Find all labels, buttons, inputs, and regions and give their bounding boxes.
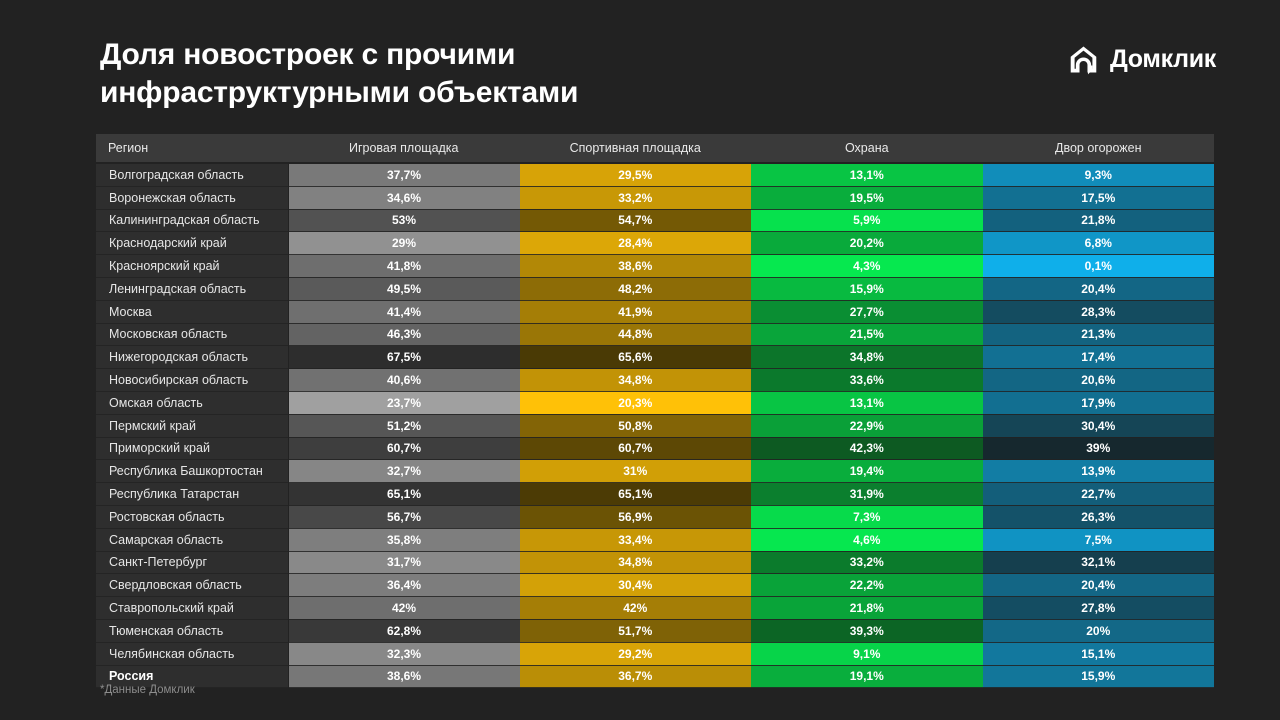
value-cell-sportsground: 41,9% [520, 300, 752, 323]
column-header-playground[interactable]: Игровая площадка [288, 134, 520, 163]
value-cell-security: 13,1% [751, 391, 983, 414]
region-name-cell: Калининградская область [96, 209, 288, 232]
value-cell-fenced_yard: 22,7% [983, 483, 1215, 506]
value-cell-security: 33,2% [751, 551, 983, 574]
value-cell-sportsground: 65,6% [520, 346, 752, 369]
value-cell-playground: 37,7% [288, 163, 520, 186]
value-cell-fenced_yard: 32,1% [983, 551, 1215, 574]
value-cell-playground: 67,5% [288, 346, 520, 369]
table-row: Пермский край51,2%50,8%22,9%30,4% [96, 414, 1214, 437]
table-row: Москва41,4%41,9%27,7%28,3% [96, 300, 1214, 323]
value-cell-fenced_yard: 20,4% [983, 277, 1215, 300]
value-cell-security: 15,9% [751, 277, 983, 300]
table-row: Республика Башкортостан32,7%31%19,4%13,9… [96, 460, 1214, 483]
value-cell-security: 19,5% [751, 186, 983, 209]
value-cell-sportsground: 29,2% [520, 642, 752, 665]
table-row: Республика Татарстан65,1%65,1%31,9%22,7% [96, 483, 1214, 506]
value-cell-sportsground: 48,2% [520, 277, 752, 300]
value-cell-playground: 65,1% [288, 483, 520, 506]
region-name-cell: Воронежская область [96, 186, 288, 209]
brand-name: Домклик [1110, 45, 1216, 74]
region-name-cell: Москва [96, 300, 288, 323]
table-row: Челябинская область32,3%29,2%9,1%15,1% [96, 642, 1214, 665]
table-header: РегионИгровая площадкаСпортивная площадк… [96, 134, 1214, 163]
value-cell-fenced_yard: 28,3% [983, 300, 1215, 323]
value-cell-playground: 35,8% [288, 528, 520, 551]
column-header-fenced_yard[interactable]: Двор огорожен [983, 134, 1215, 163]
table-row: Нижегородская область67,5%65,6%34,8%17,4… [96, 346, 1214, 369]
value-cell-fenced_yard: 21,8% [983, 209, 1215, 232]
value-cell-security: 34,8% [751, 346, 983, 369]
value-cell-fenced_yard: 30,4% [983, 414, 1215, 437]
value-cell-fenced_yard: 15,1% [983, 642, 1215, 665]
value-cell-fenced_yard: 21,3% [983, 323, 1215, 346]
region-name-cell: Волгоградская область [96, 163, 288, 186]
value-cell-sportsground: 31% [520, 460, 752, 483]
value-cell-sportsground: 30,4% [520, 574, 752, 597]
value-cell-playground: 40,6% [288, 369, 520, 392]
column-header-security[interactable]: Охрана [751, 134, 983, 163]
page-title: Доля новостроек с прочими инфраструктурн… [100, 36, 860, 113]
value-cell-security: 39,3% [751, 619, 983, 642]
value-cell-security: 21,5% [751, 323, 983, 346]
table-row: Омская область23,7%20,3%13,1%17,9% [96, 391, 1214, 414]
region-name-cell: Республика Башкортостан [96, 460, 288, 483]
table-row: Ростовская область56,7%56,9%7,3%26,3% [96, 505, 1214, 528]
value-cell-fenced_yard: 20,4% [983, 574, 1215, 597]
source-footnote: *Данные Домклик [100, 684, 195, 696]
table-row: Красноярский край41,8%38,6%4,3%0,1% [96, 255, 1214, 278]
value-cell-playground: 60,7% [288, 437, 520, 460]
region-name-cell: Санкт-Петербург [96, 551, 288, 574]
value-cell-fenced_yard: 0,1% [983, 255, 1215, 278]
value-cell-security: 31,9% [751, 483, 983, 506]
table-row: Волгоградская область37,7%29,5%13,1%9,3% [96, 163, 1214, 186]
table-row: Самарская область35,8%33,4%4,6%7,5% [96, 528, 1214, 551]
value-cell-sportsground: 60,7% [520, 437, 752, 460]
value-cell-security: 4,6% [751, 528, 983, 551]
region-name-cell: Ленинградская область [96, 277, 288, 300]
value-cell-fenced_yard: 20,6% [983, 369, 1215, 392]
value-cell-sportsground: 44,8% [520, 323, 752, 346]
value-cell-sportsground: 33,2% [520, 186, 752, 209]
value-cell-playground: 41,4% [288, 300, 520, 323]
value-cell-security: 22,9% [751, 414, 983, 437]
value-cell-playground: 38,6% [288, 665, 520, 688]
region-name-cell: Приморский край [96, 437, 288, 460]
value-cell-playground: 31,7% [288, 551, 520, 574]
brand-logo: Домклик [1068, 44, 1216, 75]
value-cell-security: 22,2% [751, 574, 983, 597]
value-cell-sportsground: 54,7% [520, 209, 752, 232]
region-name-cell: Краснодарский край [96, 232, 288, 255]
value-cell-playground: 23,7% [288, 391, 520, 414]
table-row: Санкт-Петербург31,7%34,8%33,2%32,1% [96, 551, 1214, 574]
value-cell-sportsground: 42% [520, 597, 752, 620]
column-header-region[interactable]: Регион [96, 134, 288, 163]
table-row: Калининградская область53%54,7%5,9%21,8% [96, 209, 1214, 232]
column-header-sportsground[interactable]: Спортивная площадка [520, 134, 752, 163]
value-cell-security: 21,8% [751, 597, 983, 620]
value-cell-security: 20,2% [751, 232, 983, 255]
value-cell-playground: 53% [288, 209, 520, 232]
value-cell-playground: 62,8% [288, 619, 520, 642]
value-cell-security: 9,1% [751, 642, 983, 665]
value-cell-security: 27,7% [751, 300, 983, 323]
value-cell-playground: 51,2% [288, 414, 520, 437]
value-cell-security: 4,3% [751, 255, 983, 278]
heatmap-table-container: РегионИгровая площадкаСпортивная площадк… [96, 134, 1214, 688]
value-cell-security: 7,3% [751, 505, 983, 528]
value-cell-sportsground: 51,7% [520, 619, 752, 642]
region-name-cell: Красноярский край [96, 255, 288, 278]
region-name-cell: Новосибирская область [96, 369, 288, 392]
table-body: Волгоградская область37,7%29,5%13,1%9,3%… [96, 163, 1214, 688]
value-cell-security: 19,1% [751, 665, 983, 688]
value-cell-security: 13,1% [751, 163, 983, 186]
value-cell-security: 42,3% [751, 437, 983, 460]
value-cell-playground: 32,3% [288, 642, 520, 665]
value-cell-playground: 34,6% [288, 186, 520, 209]
region-name-cell: Ставропольский край [96, 597, 288, 620]
value-cell-sportsground: 29,5% [520, 163, 752, 186]
value-cell-fenced_yard: 20% [983, 619, 1215, 642]
region-name-cell: Тюменская область [96, 619, 288, 642]
region-name-cell: Омская область [96, 391, 288, 414]
value-cell-playground: 41,8% [288, 255, 520, 278]
value-cell-fenced_yard: 15,9% [983, 665, 1215, 688]
value-cell-playground: 49,5% [288, 277, 520, 300]
table-row: Тюменская область62,8%51,7%39,3%20% [96, 619, 1214, 642]
value-cell-fenced_yard: 9,3% [983, 163, 1215, 186]
value-cell-sportsground: 36,7% [520, 665, 752, 688]
value-cell-sportsground: 38,6% [520, 255, 752, 278]
region-name-cell: Республика Татарстан [96, 483, 288, 506]
value-cell-fenced_yard: 17,5% [983, 186, 1215, 209]
value-cell-fenced_yard: 39% [983, 437, 1215, 460]
value-cell-sportsground: 34,8% [520, 369, 752, 392]
table-row: Воронежская область34,6%33,2%19,5%17,5% [96, 186, 1214, 209]
value-cell-sportsground: 33,4% [520, 528, 752, 551]
table-row: Краснодарский край29%28,4%20,2%6,8% [96, 232, 1214, 255]
region-name-cell: Московская область [96, 323, 288, 346]
value-cell-fenced_yard: 6,8% [983, 232, 1215, 255]
table-header-row: РегионИгровая площадкаСпортивная площадк… [96, 134, 1214, 163]
table-row: Ленинградская область49,5%48,2%15,9%20,4… [96, 277, 1214, 300]
value-cell-security: 5,9% [751, 209, 983, 232]
value-cell-sportsground: 50,8% [520, 414, 752, 437]
value-cell-sportsground: 56,9% [520, 505, 752, 528]
heatmap-table: РегионИгровая площадкаСпортивная площадк… [96, 134, 1214, 688]
value-cell-playground: 29% [288, 232, 520, 255]
table-row: Московская область46,3%44,8%21,5%21,3% [96, 323, 1214, 346]
region-name-cell: Самарская область [96, 528, 288, 551]
region-name-cell: Нижегородская область [96, 346, 288, 369]
value-cell-fenced_yard: 27,8% [983, 597, 1215, 620]
value-cell-fenced_yard: 7,5% [983, 528, 1215, 551]
value-cell-sportsground: 34,8% [520, 551, 752, 574]
table-row: Ставропольский край42%42%21,8%27,8% [96, 597, 1214, 620]
value-cell-playground: 56,7% [288, 505, 520, 528]
region-name-cell: Ростовская область [96, 505, 288, 528]
region-name-cell: Свердловская область [96, 574, 288, 597]
value-cell-sportsground: 65,1% [520, 483, 752, 506]
value-cell-sportsground: 20,3% [520, 391, 752, 414]
table-row: Приморский край60,7%60,7%42,3%39% [96, 437, 1214, 460]
value-cell-fenced_yard: 17,4% [983, 346, 1215, 369]
value-cell-sportsground: 28,4% [520, 232, 752, 255]
table-row: Новосибирская область40,6%34,8%33,6%20,6… [96, 369, 1214, 392]
value-cell-playground: 36,4% [288, 574, 520, 597]
infographic-page: Доля новостроек с прочими инфраструктурн… [0, 0, 1280, 720]
value-cell-playground: 42% [288, 597, 520, 620]
value-cell-fenced_yard: 13,9% [983, 460, 1215, 483]
value-cell-security: 19,4% [751, 460, 983, 483]
table-row: Свердловская область36,4%30,4%22,2%20,4% [96, 574, 1214, 597]
domclick-house-icon [1068, 44, 1099, 75]
region-name-cell: Пермский край [96, 414, 288, 437]
value-cell-fenced_yard: 17,9% [983, 391, 1215, 414]
value-cell-fenced_yard: 26,3% [983, 505, 1215, 528]
value-cell-security: 33,6% [751, 369, 983, 392]
region-name-cell: Челябинская область [96, 642, 288, 665]
value-cell-playground: 32,7% [288, 460, 520, 483]
value-cell-playground: 46,3% [288, 323, 520, 346]
page-header: Доля новостроек с прочими инфраструктурн… [100, 36, 1216, 120]
table-row: Россия38,6%36,7%19,1%15,9% [96, 665, 1214, 688]
